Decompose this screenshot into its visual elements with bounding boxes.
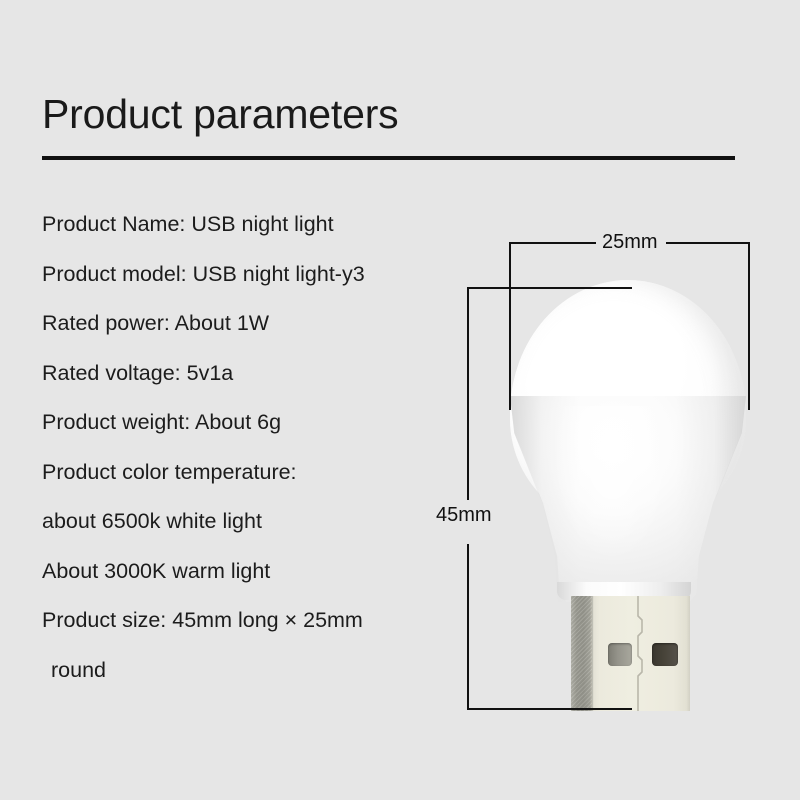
height-dim-line-top xyxy=(467,288,469,500)
spec-item-color-temperature: Product color temperature: xyxy=(42,448,462,498)
height-ext-line-top xyxy=(467,287,632,289)
usb-plug-icon xyxy=(571,596,690,711)
product-diagram xyxy=(400,200,800,760)
height-dim-line-bottom xyxy=(467,544,469,710)
spec-item-product-model: Product model: USB night light-y3 xyxy=(42,250,462,300)
width-ext-line-left xyxy=(509,242,511,410)
product-parameters-page: Product parameters Product Name: USB nig… xyxy=(0,0,800,800)
page-title: Product parameters xyxy=(42,94,398,135)
spec-item-rated-voltage: Rated voltage: 5v1a xyxy=(42,349,462,399)
spec-item-rated-power: Rated power: About 1W xyxy=(42,299,462,349)
bulb-body-icon xyxy=(510,396,746,602)
usb-notch-left xyxy=(608,643,632,666)
spec-item-white-light: about 6500k white light xyxy=(42,497,462,547)
spec-item-product-name: Product Name: USB night light xyxy=(42,200,462,250)
spec-item-product-size: Product size: 45mm long × 25mm xyxy=(42,596,462,646)
title-divider xyxy=(42,156,735,160)
width-dim-line-right xyxy=(666,242,750,244)
spec-item-product-weight: Product weight: About 6g xyxy=(42,398,462,448)
usb-side-strip xyxy=(571,596,592,711)
usb-notch-right xyxy=(652,643,678,666)
usb-seam-line xyxy=(634,596,643,711)
spec-list: Product Name: USB night light Product mo… xyxy=(42,200,462,695)
width-dim-line-left xyxy=(510,242,598,244)
spec-item-product-size-cont: round xyxy=(42,646,462,696)
width-ext-line-right xyxy=(748,242,750,410)
spec-item-warm-light: About 3000K warm light xyxy=(42,547,462,597)
height-ext-line-bottom xyxy=(467,708,632,710)
width-dimension-label: 25mm xyxy=(596,232,664,252)
height-dimension-label: 45mm xyxy=(430,505,498,525)
